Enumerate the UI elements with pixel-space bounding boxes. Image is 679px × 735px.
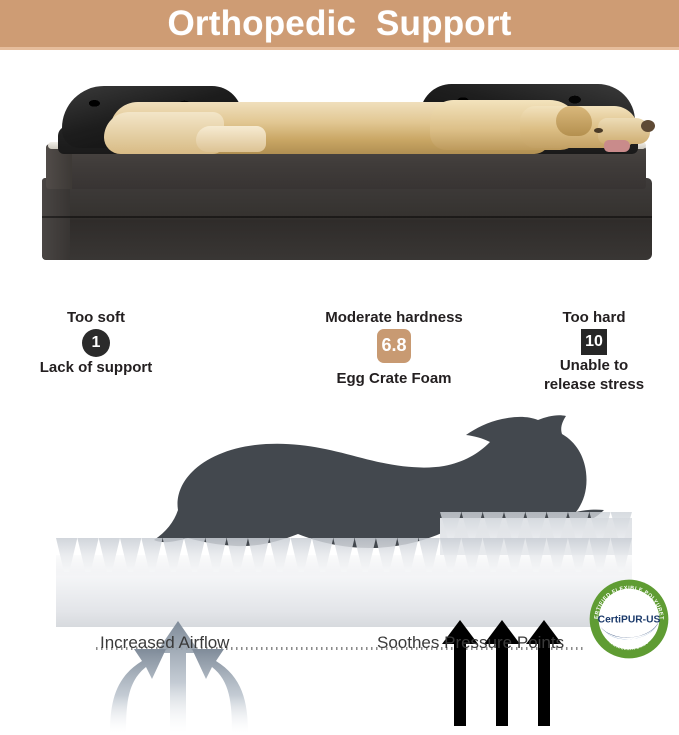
product-infographic: Orthopedic Support Too soft 1 Lack o bbox=[0, 0, 679, 668]
caption-increased-airflow: Increased Airflow bbox=[100, 633, 229, 653]
dog-eye bbox=[594, 128, 603, 133]
scale-marker-1: 1 bbox=[82, 329, 110, 357]
scale-stop-moderate: Moderate hardness 6.8 Egg Crate Foam bbox=[310, 310, 478, 387]
foam-step-egg-crate-texture bbox=[440, 512, 632, 540]
scale-bottom-label-soft: Lack of support bbox=[20, 360, 172, 377]
dog-nose bbox=[641, 120, 655, 132]
header-banner: Orthopedic Support bbox=[0, 0, 679, 47]
page-title: Orthopedic Support bbox=[167, 6, 511, 41]
scale-marker-6-8: 6.8 bbox=[377, 329, 411, 363]
scale-top-label-soft: Too soft bbox=[20, 310, 172, 327]
dog-tongue bbox=[604, 140, 630, 152]
banner-underline bbox=[0, 47, 679, 50]
egg-crate-texture bbox=[56, 538, 632, 572]
bed-base-seam bbox=[42, 216, 652, 218]
scale-stop-too-hard: Too hard 10 Unable to release stress bbox=[524, 310, 664, 394]
bed-base bbox=[42, 178, 652, 260]
product-photo bbox=[0, 56, 679, 292]
badge-center-text: CertiPUR-US bbox=[598, 614, 661, 625]
scale-bottom-label-moderate: Egg Crate Foam bbox=[310, 371, 478, 388]
dog-paw bbox=[196, 126, 266, 152]
scale-bottom-label-hard-line1: Unable to bbox=[524, 358, 664, 375]
scale-top-label-hard: Too hard bbox=[524, 310, 664, 327]
hardness-scale: Too soft 1 Lack of support Moderate hard… bbox=[0, 300, 679, 400]
dog-ear bbox=[556, 106, 592, 136]
certipur-us-badge: CONTAINS CERTIFIED FLEXIBLE POLYURETHANE… bbox=[588, 578, 670, 660]
bed-base-left-face bbox=[42, 178, 70, 260]
scale-stop-too-soft: Too soft 1 Lack of support bbox=[20, 310, 172, 376]
foam-cross-section-diagram: Increased Airflow Soothes Pressure Point… bbox=[0, 400, 679, 668]
scale-bottom-label-hard-line2: release stress bbox=[524, 377, 664, 394]
scale-top-label-moderate: Moderate hardness bbox=[310, 310, 478, 327]
scale-marker-10: 10 bbox=[581, 329, 607, 355]
caption-soothes-pressure-points: Soothes Pressure Points bbox=[377, 633, 564, 653]
